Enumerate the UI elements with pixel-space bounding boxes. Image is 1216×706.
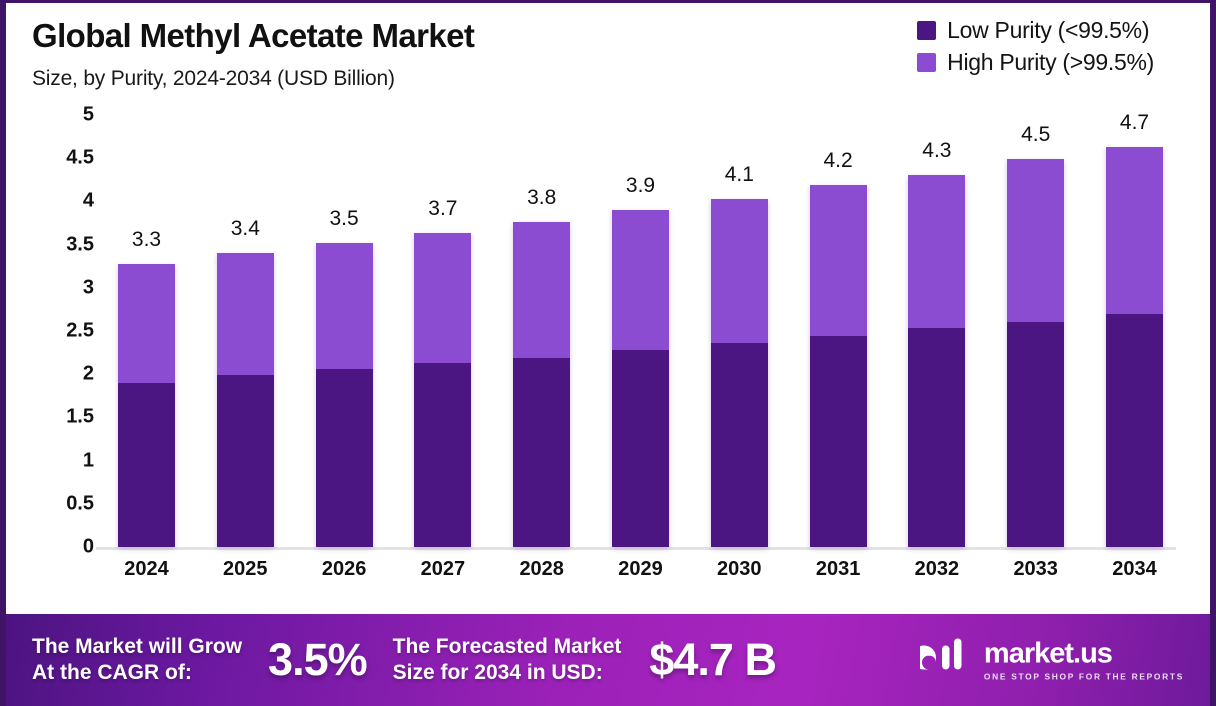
y-axis-tick-label: 5 xyxy=(83,104,94,127)
x-axis-tick-label: 2034 xyxy=(1106,558,1163,581)
cagr-caption-line2: At the CAGR of: xyxy=(32,660,242,686)
market-us-logo-icon xyxy=(920,639,974,682)
y-axis-tick-label: 0.5 xyxy=(66,492,94,515)
chart-header: Global Methyl Acetate Market Size, by Pu… xyxy=(32,17,732,91)
y-axis-tick-label: 1 xyxy=(83,449,94,472)
y-axis-tick-label: 4 xyxy=(83,190,94,213)
x-axis-tick-label: 2033 xyxy=(1007,558,1064,581)
logo-name: market.us xyxy=(984,639,1184,668)
forecast-caption-line2: Size for 2034 in USD: xyxy=(393,660,622,686)
legend-item[interactable]: Low Purity (<99.5%) xyxy=(917,17,1154,44)
footer-banner: The Market will Grow At the CAGR of: 3.5… xyxy=(6,614,1210,706)
y-axis-tick-label: 2 xyxy=(83,363,94,386)
x-axis-tick-label: 2025 xyxy=(217,558,274,581)
x-axis-tick-label: 2027 xyxy=(414,558,471,581)
x-axis: 2024202520262027202820292030203120322033… xyxy=(96,115,1180,595)
logo-text-block: market.us ONE STOP SHOP FOR THE REPORTS xyxy=(984,639,1184,681)
x-axis-tick-label: 2029 xyxy=(612,558,669,581)
page-title: Global Methyl Acetate Market xyxy=(32,17,732,55)
y-axis-tick-label: 1.5 xyxy=(66,406,94,429)
x-axis-tick-label: 2031 xyxy=(810,558,867,581)
cagr-caption-line1: The Market will Grow xyxy=(32,634,242,660)
x-axis-tick-label: 2026 xyxy=(316,558,373,581)
logo-tagline: ONE STOP SHOP FOR THE REPORTS xyxy=(984,671,1184,681)
cagr-value: 3.5% xyxy=(268,634,367,686)
legend-swatch-icon xyxy=(917,53,936,72)
forecast-caption-line1: The Forecasted Market xyxy=(393,634,622,660)
y-axis-tick-label: 3.5 xyxy=(66,233,94,256)
y-axis-tick-label: 2.5 xyxy=(66,320,94,343)
y-axis-tick-label: 4.5 xyxy=(66,147,94,170)
chart-subtitle: Size, by Purity, 2024-2034 (USD Billion) xyxy=(32,67,732,91)
x-axis-tick-label: 2024 xyxy=(118,558,175,581)
cagr-caption: The Market will Grow At the CAGR of: xyxy=(32,634,242,685)
x-axis-tick-label: 2032 xyxy=(908,558,965,581)
legend-item-label: High Purity (>99.5%) xyxy=(947,49,1154,76)
legend-item-label: Low Purity (<99.5%) xyxy=(947,17,1149,44)
market-us-logo[interactable]: market.us ONE STOP SHOP FOR THE REPORTS xyxy=(920,639,1184,682)
legend-item[interactable]: High Purity (>99.5%) xyxy=(917,49,1154,76)
y-axis: 54.543.532.521.510.50 xyxy=(6,115,94,551)
legend-swatch-icon xyxy=(917,21,936,40)
x-axis-tick-label: 2030 xyxy=(711,558,768,581)
infographic-root: Global Methyl Acetate Market Size, by Pu… xyxy=(0,0,1216,706)
chart-plot-area: 54.543.532.521.510.50 3.33.43.53.73.83.9… xyxy=(6,115,1210,605)
y-axis-tick-label: 3 xyxy=(83,276,94,299)
y-axis-tick-label: 0 xyxy=(83,536,94,559)
chart-legend: Low Purity (<99.5%)High Purity (>99.5%) xyxy=(917,17,1154,81)
forecast-value: $4.7 B xyxy=(649,634,776,686)
forecast-caption: The Forecasted Market Size for 2034 in U… xyxy=(393,634,622,685)
x-axis-tick-label: 2028 xyxy=(513,558,570,581)
